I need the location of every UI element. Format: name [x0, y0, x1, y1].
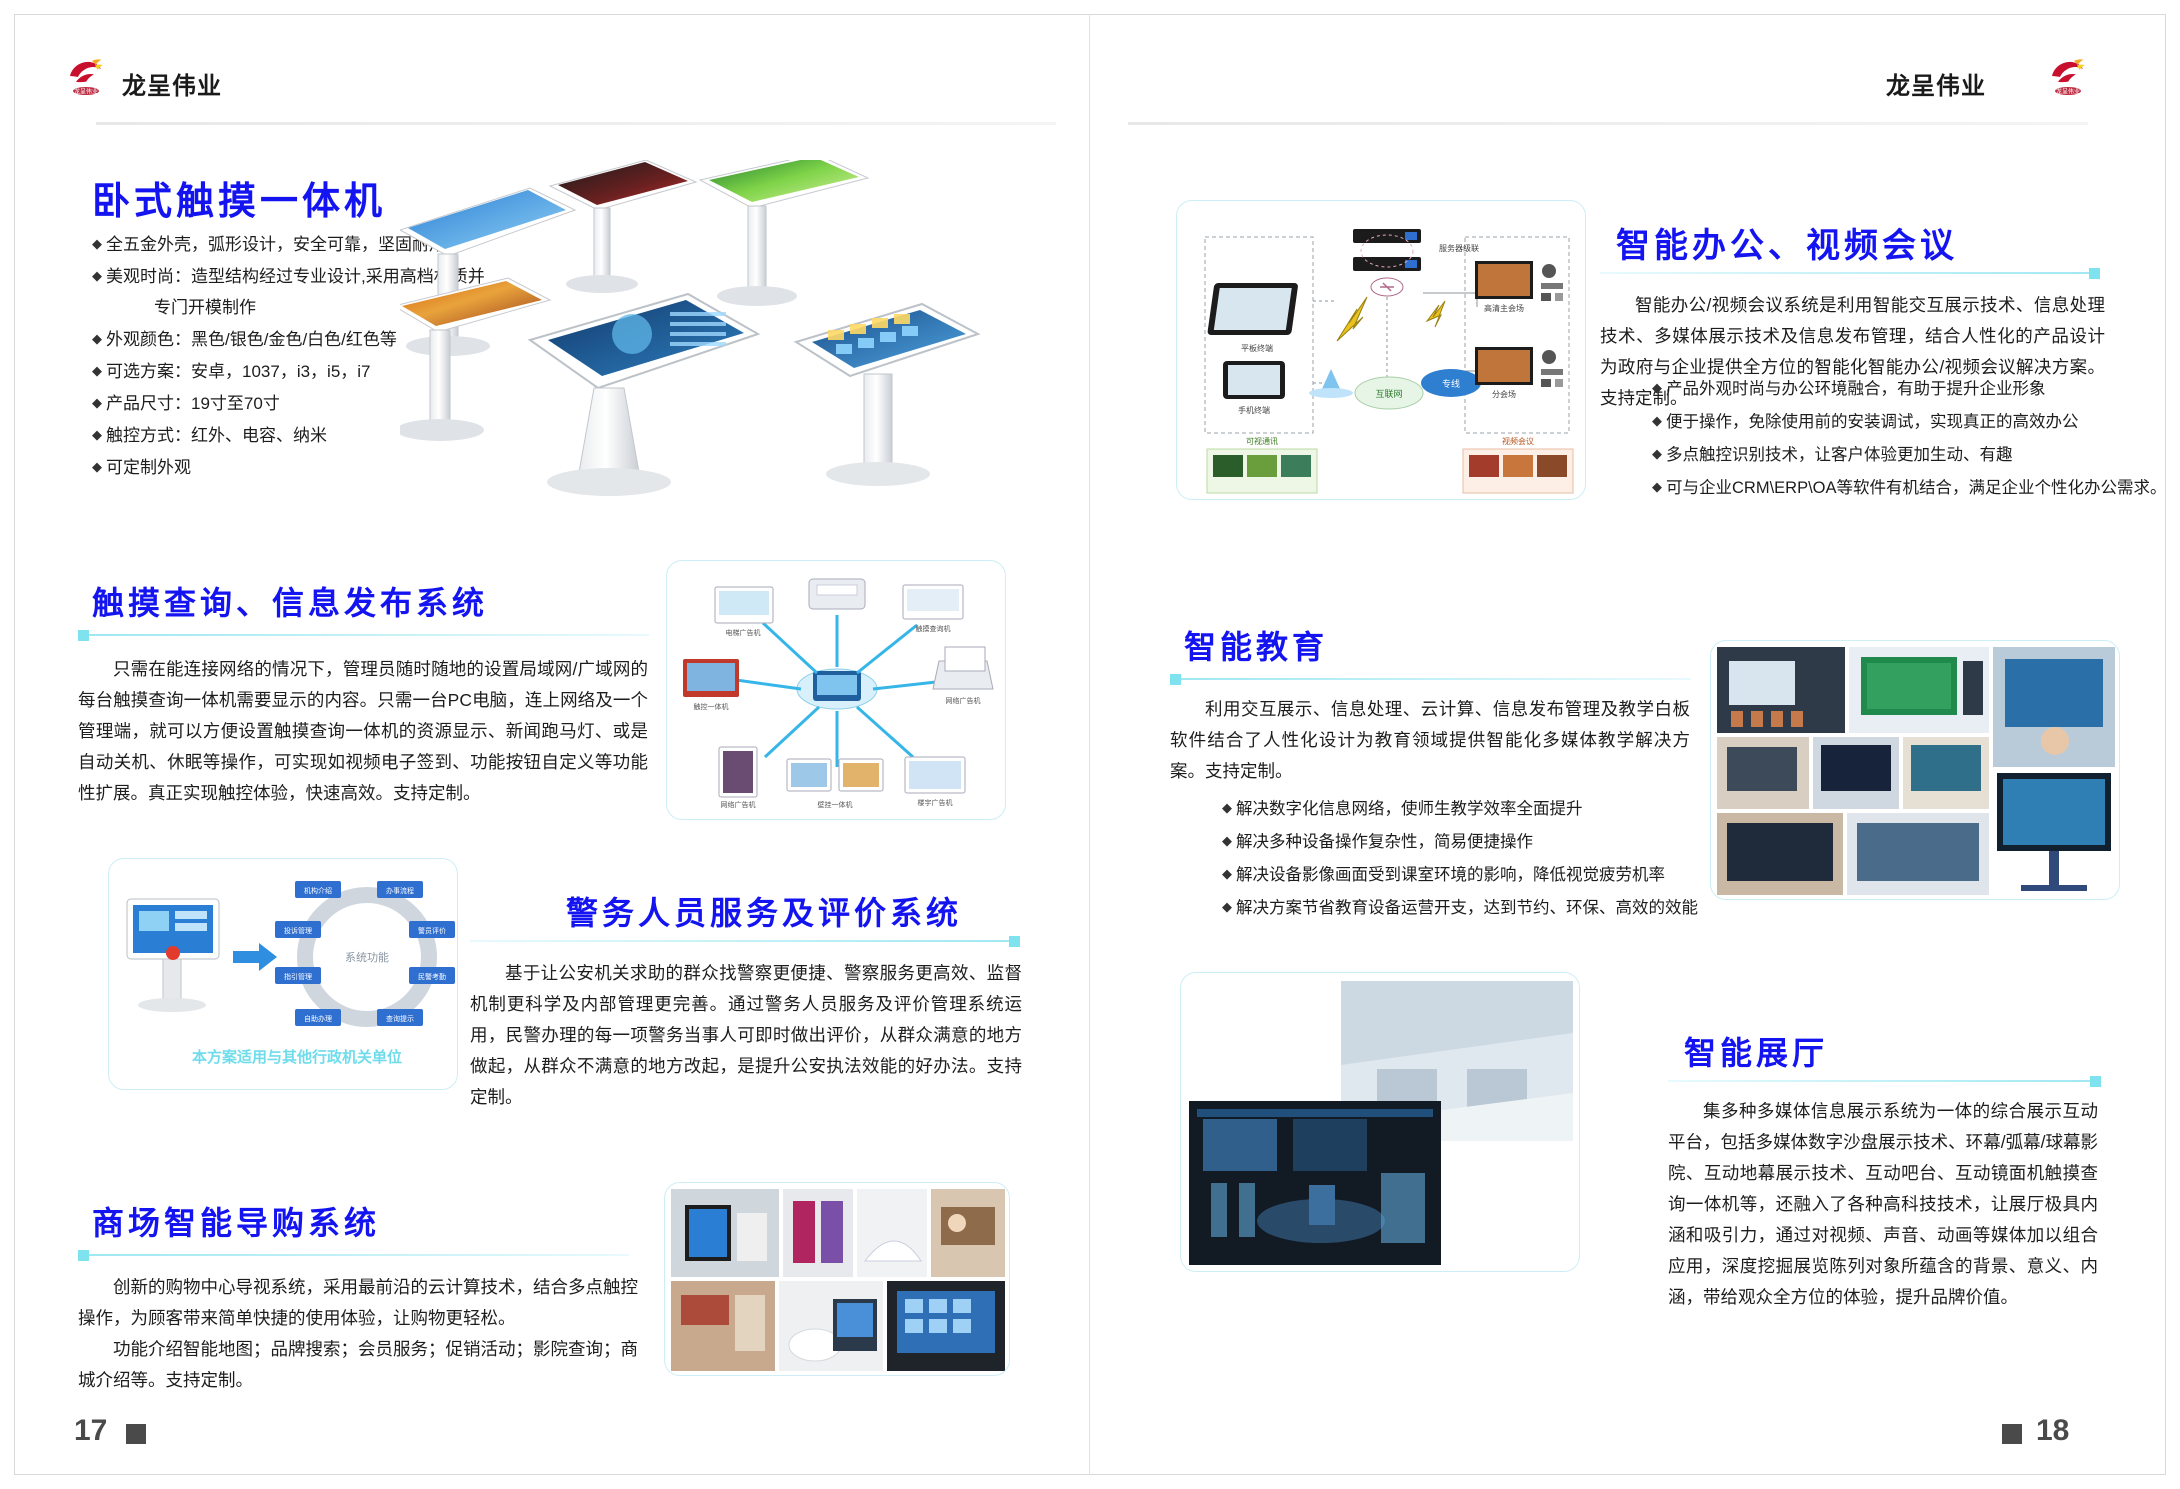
svg-text:机构介绍: 机构介绍: [304, 886, 332, 895]
diamond-bullet-icon: ◆: [1222, 833, 1232, 848]
section-title-touch-query: 触摸查询、信息发布系统: [92, 578, 488, 624]
list-item: ◆产品外观时尚与办公环境融合，有助于提升企业形象: [1652, 372, 2122, 405]
list-item: ◆多点触控识别技术，让客户体验更加生动、有趣: [1652, 438, 2122, 471]
brand-name-left: 龙呈伟业: [122, 66, 222, 101]
svg-text:专线: 专线: [1442, 378, 1460, 389]
svg-text:可视通讯: 可视通讯: [1246, 436, 1278, 446]
list-item: ◆解决设备影像画面受到课室环境的影响，降低视觉疲劳机率: [1222, 858, 1722, 891]
header-rule-left: [96, 122, 1056, 125]
svg-text:视频会议: 视频会议: [1502, 436, 1534, 446]
police-diagram-caption: 本方案适用与其他行政机关单位: [192, 1046, 402, 1067]
svg-text:指引管理: 指引管理: [284, 972, 312, 981]
smart-office-bullets: ◆产品外观时尚与办公环境融合，有助于提升企业形象 ◆便于操作，免除使用前的安装调…: [1652, 372, 2122, 504]
svg-text:查询提示: 查询提示: [386, 1014, 414, 1023]
svg-text:分会场: 分会场: [1492, 389, 1516, 399]
heading-dot: [78, 630, 89, 641]
svg-text:触摸查询机: 触摸查询机: [916, 624, 951, 633]
exhibition-photo-card: [1180, 972, 1580, 1272]
diamond-bullet-icon: ◆: [92, 268, 102, 283]
diamond-bullet-icon: ◆: [1222, 800, 1232, 815]
diamond-bullet-icon: ◆: [92, 427, 102, 442]
section-title-horizontal-kiosk: 卧式触摸一体机: [92, 170, 386, 225]
touch-query-paragraph: 只需在能连接网络的情况下，管理员随时随地的设置局域网/广域网的每台触摸查询一体机…: [78, 654, 648, 809]
section-title-mall-guide: 商场智能导购系统: [92, 1198, 380, 1244]
svg-text:自助办理: 自助办理: [304, 1014, 332, 1023]
svg-text:壁挂一体机: 壁挂一体机: [818, 800, 853, 809]
svg-text:高清主会场: 高清主会场: [1484, 303, 1524, 313]
heading-rule-exhibition: [1668, 1080, 2098, 1082]
svg-text:投诉管理: 投诉管理: [284, 926, 312, 935]
svg-text:系统功能: 系统功能: [345, 950, 389, 964]
svg-text:互联网: 互联网: [1375, 389, 1402, 399]
diamond-bullet-icon: ◆: [1652, 446, 1662, 461]
exhibition-paragraph: 集多种多媒体信息展示系统为一体的综合展示互动平台，包括多媒体数字沙盘展示技术、环…: [1668, 1096, 2098, 1313]
diamond-bullet-icon: ◆: [92, 363, 102, 378]
mall-paragraphs: 创新的购物中心导视系统，采用最前沿的云计算技术，结合多点触控操作，为顾客带来简单…: [78, 1272, 638, 1396]
svg-text:电梯广告机: 电梯广告机: [726, 628, 761, 637]
brochure-spread: 龙呈伟业 龙呈伟业 龙呈伟业 龙呈伟业 卧式触摸一体机 ◆全五金外壳，弧形设计，…: [0, 0, 2180, 1489]
svg-text:警员评价: 警员评价: [418, 926, 446, 935]
svg-text:龙呈伟业: 龙呈伟业: [74, 87, 98, 95]
police-paragraph: 基于让公安机关求助的群众找警察更便捷、警察服务更高效、监督机制更科学及内部管理更…: [470, 958, 1022, 1113]
list-item: ◆便于操作，免除使用前的安装调试，实现真正的高效办公: [1652, 405, 2122, 438]
heading-dot-education: [1170, 674, 1181, 685]
diamond-bullet-icon: ◆: [1652, 479, 1662, 494]
header-rule-right: [1128, 122, 2088, 125]
mall-photo-collage: [664, 1182, 1010, 1376]
section-title-police-service: 警务人员服务及评价系统: [566, 888, 962, 934]
heading-dot-police: [1009, 936, 1020, 947]
list-item: ◆可与企业CRM\ERP\OA等软件有机结合，满足企业个性化办公需求。: [1652, 471, 2122, 504]
heading-rule: [89, 634, 649, 636]
page-marker-left-icon: [126, 1424, 146, 1444]
svg-text:网络广告机: 网络广告机: [721, 800, 756, 809]
heading-dot-exhibition: [2090, 1076, 2101, 1087]
diamond-bullet-icon: ◆: [1652, 413, 1662, 428]
video-conference-diagram-card: 可视通讯 视频会议 服务器级联: [1176, 200, 1586, 500]
heading-dot-mall: [78, 1250, 89, 1261]
svg-text:办事流程: 办事流程: [386, 886, 414, 895]
section-title-exhibition-hall: 智能展厅: [1684, 1028, 1828, 1074]
list-item: ◆解决多种设备操作复杂性，简易便捷操作: [1222, 825, 1722, 858]
svg-text:触控一体机: 触控一体机: [694, 702, 729, 711]
diamond-bullet-icon: ◆: [92, 236, 102, 251]
education-bullets: ◆解决数字化信息网络，使师生教学效率全面提升 ◆解决多种设备操作复杂性，简易便捷…: [1222, 792, 1722, 924]
diamond-bullet-icon: ◆: [1652, 380, 1662, 395]
education-paragraph: 利用交互展示、信息处理、云计算、信息发布管理及教学白板软件结合了人性化设计为教育…: [1170, 694, 1690, 787]
page-number-right: 18: [2036, 1414, 2069, 1448]
list-item: ◆解决方案节省教育设备运营开支，达到节约、环保、高效的效能: [1222, 891, 1722, 924]
page-marker-right-icon: [2002, 1424, 2022, 1444]
svg-text:平板终端: 平板终端: [1241, 343, 1273, 353]
heading-dot-office: [2089, 268, 2100, 279]
heading-rule-police: [470, 940, 1020, 942]
svg-text:网络广告机: 网络广告机: [946, 696, 981, 705]
svg-text:民警考勤: 民警考勤: [418, 972, 446, 981]
svg-text:楼宇广告机: 楼宇广告机: [918, 798, 953, 807]
svg-text:龙呈伟业: 龙呈伟业: [2056, 87, 2080, 95]
touch-query-diagram-card: 电梯广告机 触摸查询机 触控一体机 网络广告机 网络广告机: [666, 560, 1006, 820]
heading-rule-mall: [89, 1254, 629, 1256]
list-item: ◆解决数字化信息网络，使师生教学效率全面提升: [1222, 792, 1722, 825]
kiosk-product-photos: [400, 160, 1100, 560]
brand-name-right: 龙呈伟业: [1886, 66, 1986, 101]
svg-text:服务器级联: 服务器级联: [1439, 243, 1479, 253]
heading-rule-education: [1181, 678, 1691, 680]
section-title-smart-education: 智能教育: [1184, 622, 1328, 668]
section-title-smart-office: 智能办公、视频会议: [1616, 218, 1958, 267]
dragon-logo-icon: 龙呈伟业: [62, 52, 110, 100]
diamond-bullet-icon: ◆: [92, 395, 102, 410]
dragon-logo-icon-right: 龙呈伟业: [2044, 52, 2092, 100]
diamond-bullet-icon: ◆: [1222, 899, 1232, 914]
diamond-bullet-icon: ◆: [1222, 866, 1232, 881]
heading-rule-office: [1600, 272, 2100, 274]
diamond-bullet-icon: ◆: [92, 459, 102, 474]
education-photo-collage: [1710, 640, 2120, 900]
diamond-bullet-icon: ◆: [92, 331, 102, 346]
svg-text:手机终端: 手机终端: [1238, 405, 1270, 415]
page-number-left: 17: [74, 1414, 107, 1448]
